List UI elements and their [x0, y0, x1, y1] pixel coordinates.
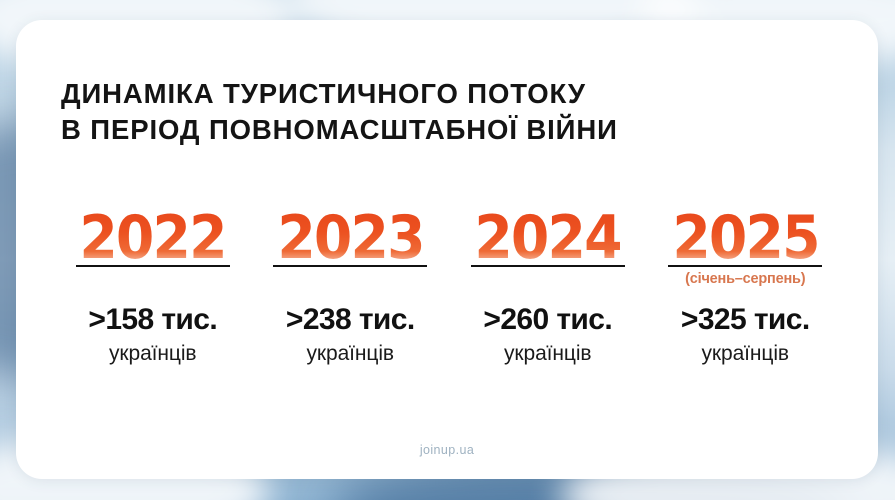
footer-site-label: joinup.ua [16, 443, 878, 457]
infographic-stage: ДИНАМІКА ТУРИСТИЧНОГО ПОТОКУ В ПЕРІОД ПО… [0, 0, 895, 500]
year-underline [273, 265, 427, 267]
year-block: 2023 [252, 196, 450, 268]
year-label: 2024 [473, 208, 623, 268]
stat-unit: українців [54, 342, 252, 366]
stat-value: >260 тис. [449, 303, 647, 337]
stat-unit: українців [252, 342, 450, 366]
page-title: ДИНАМІКА ТУРИСТИЧНОГО ПОТОКУ В ПЕРІОД ПО… [61, 76, 618, 148]
stat-unit: українців [449, 342, 647, 366]
year-label: 2022 [78, 208, 228, 268]
stat-column-2025: 2025 (січень–серпень) >325 тис. українці… [647, 196, 845, 366]
stat-column-2022: 2022 >158 тис. українців [54, 196, 252, 366]
year-underline [471, 265, 625, 267]
stat-value: >238 тис. [252, 303, 450, 337]
year-note: (січень–серпень) [647, 271, 845, 289]
year-block: 2025 [647, 196, 845, 268]
year-block: 2024 [449, 196, 647, 268]
year-label: 2023 [275, 208, 425, 268]
stat-column-2023: 2023 >238 тис. українців [252, 196, 450, 366]
stat-unit: українців [647, 342, 845, 366]
year-underline [668, 265, 822, 267]
year-label: 2025 [670, 208, 820, 268]
infographic-card: ДИНАМІКА ТУРИСТИЧНОГО ПОТОКУ В ПЕРІОД ПО… [16, 20, 878, 479]
year-block: 2022 [54, 196, 252, 268]
stat-value: >325 тис. [647, 303, 845, 337]
stats-row: 2022 >158 тис. українців 2023 >238 тис. … [54, 196, 844, 366]
stat-value: >158 тис. [54, 303, 252, 337]
year-underline [76, 265, 230, 267]
stat-column-2024: 2024 >260 тис. українців [449, 196, 647, 366]
